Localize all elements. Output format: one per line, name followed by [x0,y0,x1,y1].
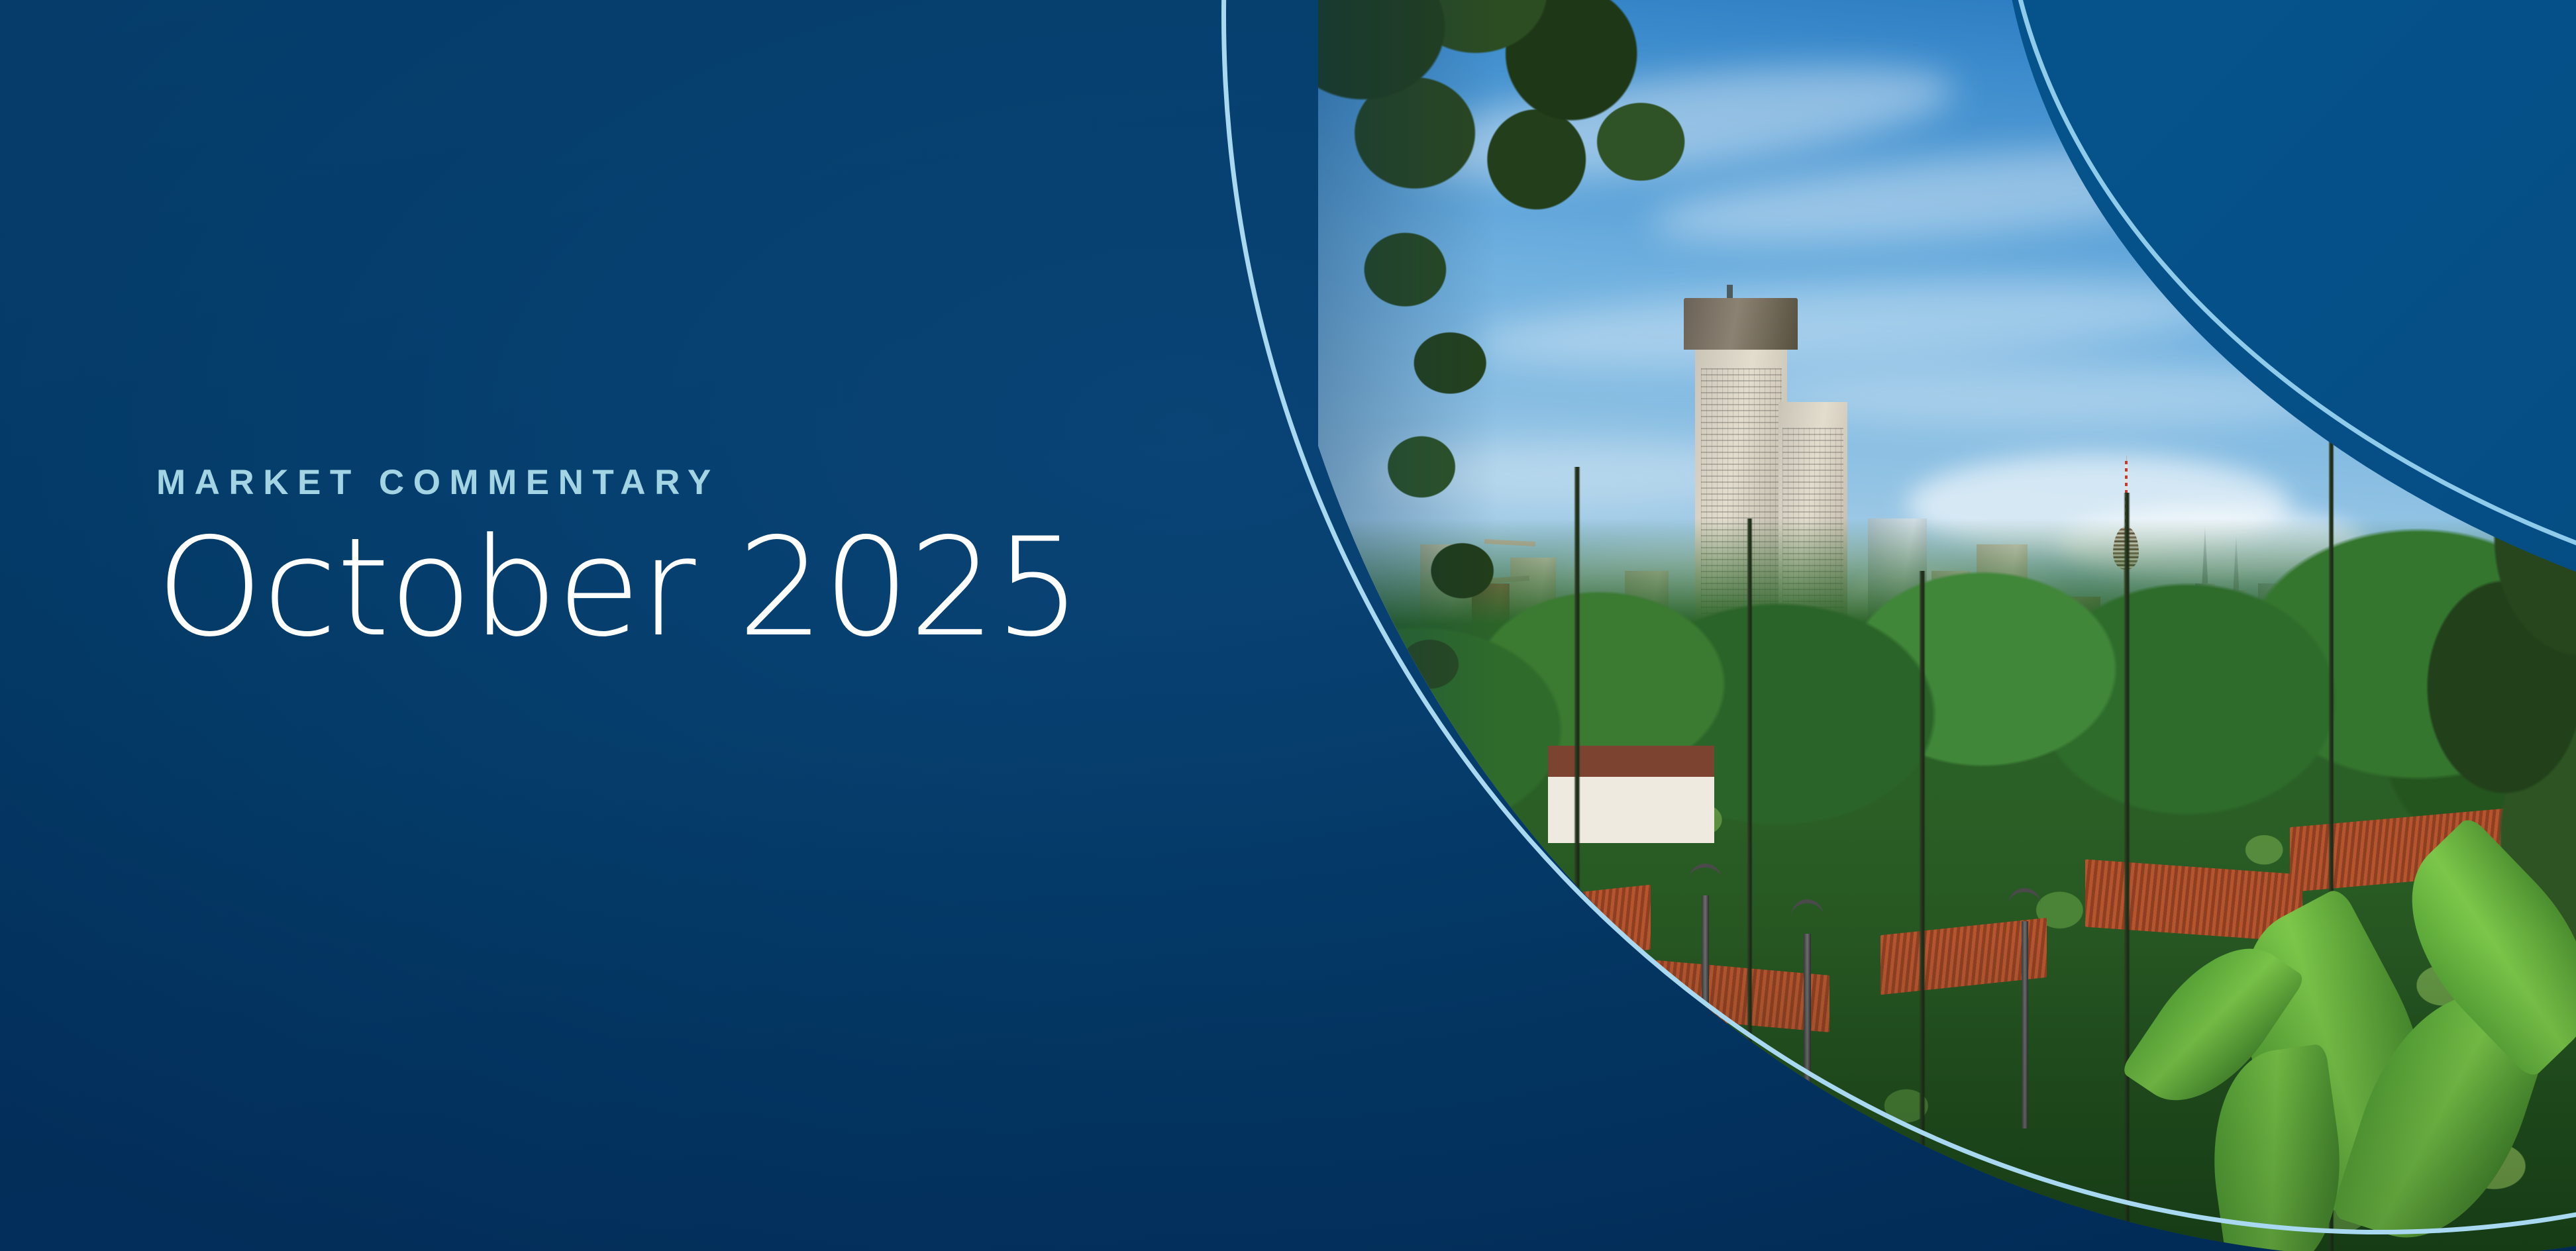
page-title: October 2025 [156,519,1315,658]
headline-block: MARKET COMMENTARY October 2025 [156,464,1315,658]
eyebrow-label: MARKET COMMENTARY [156,464,1315,502]
market-commentary-banner: MARKET COMMENTARY October 2025 [0,0,2576,1251]
